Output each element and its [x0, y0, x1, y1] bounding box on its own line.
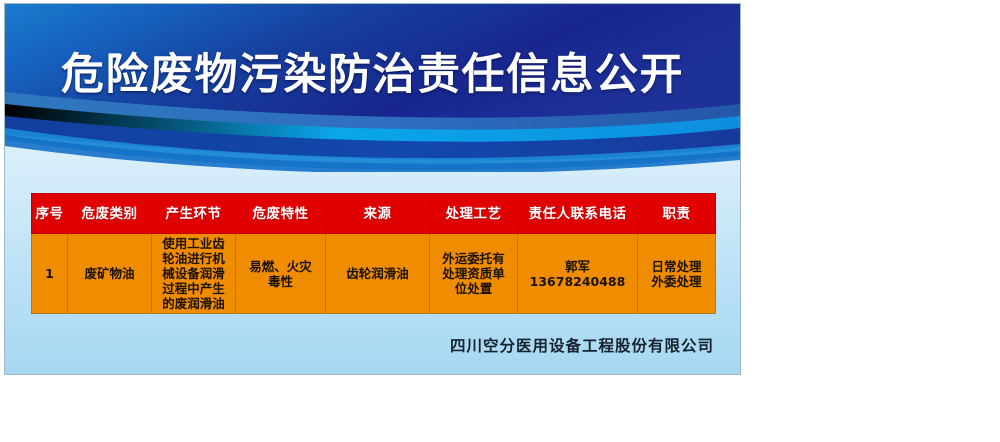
table-row: 1 废矿物油 使用工业齿 轮油进行机 械设备润滑 过程中产生 的废润滑油 易燃、… [32, 234, 716, 314]
cell-duty: 日常处理 外委处理 [638, 234, 716, 314]
cell-property: 易燃、火灾 毒性 [236, 234, 326, 314]
header-contact: 责任人联系电话 [518, 194, 638, 234]
header-property: 危废特性 [236, 194, 326, 234]
cell-category: 废矿物油 [68, 234, 152, 314]
header-seq: 序号 [32, 194, 68, 234]
header-stage: 产生环节 [152, 194, 236, 234]
hazardous-waste-table: 序号 危废类别 产生环节 危废特性 来源 处理工艺 责任人联系电话 职责 1 废… [31, 193, 716, 314]
header-process: 处理工艺 [430, 194, 518, 234]
contact-person-phone: 13678240488 [520, 274, 635, 289]
header-duty: 职责 [638, 194, 716, 234]
poster-banner: 危险废物污染防治责任信息公开 [5, 4, 740, 172]
cell-source: 齿轮润滑油 [326, 234, 430, 314]
cell-stage: 使用工业齿 轮油进行机 械设备润滑 过程中产生 的废润滑油 [152, 234, 236, 314]
page-title: 危险废物污染防治责任信息公开 [5, 48, 740, 102]
header-source: 来源 [326, 194, 430, 234]
contact-person-name: 郭军 [520, 259, 635, 274]
cell-contact: 郭军 13678240488 [518, 234, 638, 314]
information-disclosure-poster: 危险废物污染防治责任信息公开 序号 危废类别 产生环节 危废特性 来源 处理工艺… [4, 3, 741, 375]
cell-process: 外运委托有 处理资质单 位处置 [430, 234, 518, 314]
company-name: 四川空分医用设备工程股份有限公司 [5, 334, 740, 356]
header-category: 危废类别 [68, 194, 152, 234]
table-header-row: 序号 危废类别 产生环节 危废特性 来源 处理工艺 责任人联系电话 职责 [32, 194, 716, 234]
cell-seq: 1 [32, 234, 68, 314]
